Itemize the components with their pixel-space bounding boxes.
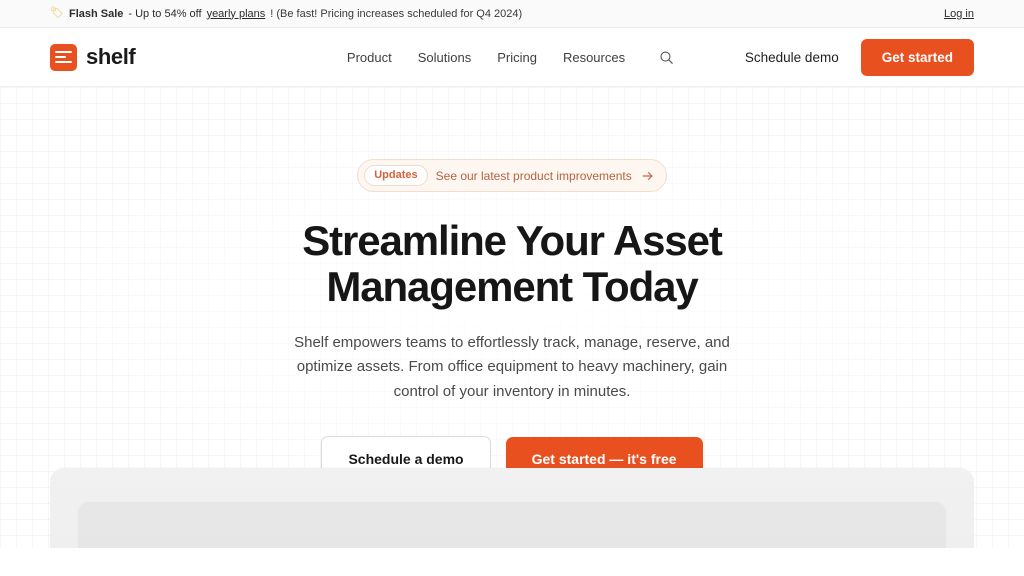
header-actions: Schedule demo Get started	[745, 39, 974, 76]
announcement-offer: - Up to 54% off	[128, 8, 201, 20]
main-navigation: Product Solutions Pricing Resources	[347, 46, 677, 68]
updates-tag-label: Updates	[364, 165, 427, 186]
search-icon[interactable]	[655, 46, 677, 68]
schedule-demo-link[interactable]: Schedule demo	[745, 50, 839, 65]
updates-badge-text: See our latest product improvements	[436, 169, 632, 183]
yearly-plans-link[interactable]: yearly plans	[207, 8, 266, 20]
updates-announcement-badge[interactable]: Updates See our latest product improveme…	[357, 159, 667, 192]
arrow-right-icon	[642, 170, 654, 182]
login-link[interactable]: Log in	[944, 8, 974, 20]
announcement-detail: ! (Be fast! Pricing increases scheduled …	[270, 8, 522, 20]
announcement-bar: 🏷 Flash Sale - Up to 54% off yearly plan…	[0, 0, 1024, 28]
get-started-button[interactable]: Get started	[861, 39, 974, 76]
brand-name: shelf	[86, 44, 135, 70]
nav-item-product[interactable]: Product	[347, 50, 392, 65]
site-header: shelf Product Solutions Pricing Resource…	[0, 28, 1024, 86]
page-title: Streamline Your Asset Management Today	[192, 218, 832, 309]
hero-section: Updates See our latest product improveme…	[0, 86, 1024, 548]
hero-subtitle: Shelf empowers teams to effortlessly tra…	[282, 331, 742, 404]
brand-logo[interactable]: shelf	[50, 44, 135, 71]
announcement-message: 🏷 Flash Sale - Up to 54% off yearly plan…	[50, 8, 522, 20]
announcement-highlight: Flash Sale	[69, 8, 123, 20]
hero-content: Updates See our latest product improveme…	[0, 87, 1024, 519]
product-preview-panel	[50, 468, 974, 548]
nav-item-pricing[interactable]: Pricing	[497, 50, 537, 65]
nav-item-resources[interactable]: Resources	[563, 50, 625, 65]
nav-item-solutions[interactable]: Solutions	[418, 50, 471, 65]
shelf-logo-icon	[50, 44, 77, 71]
tag-emoji: 🏷	[50, 8, 64, 19]
